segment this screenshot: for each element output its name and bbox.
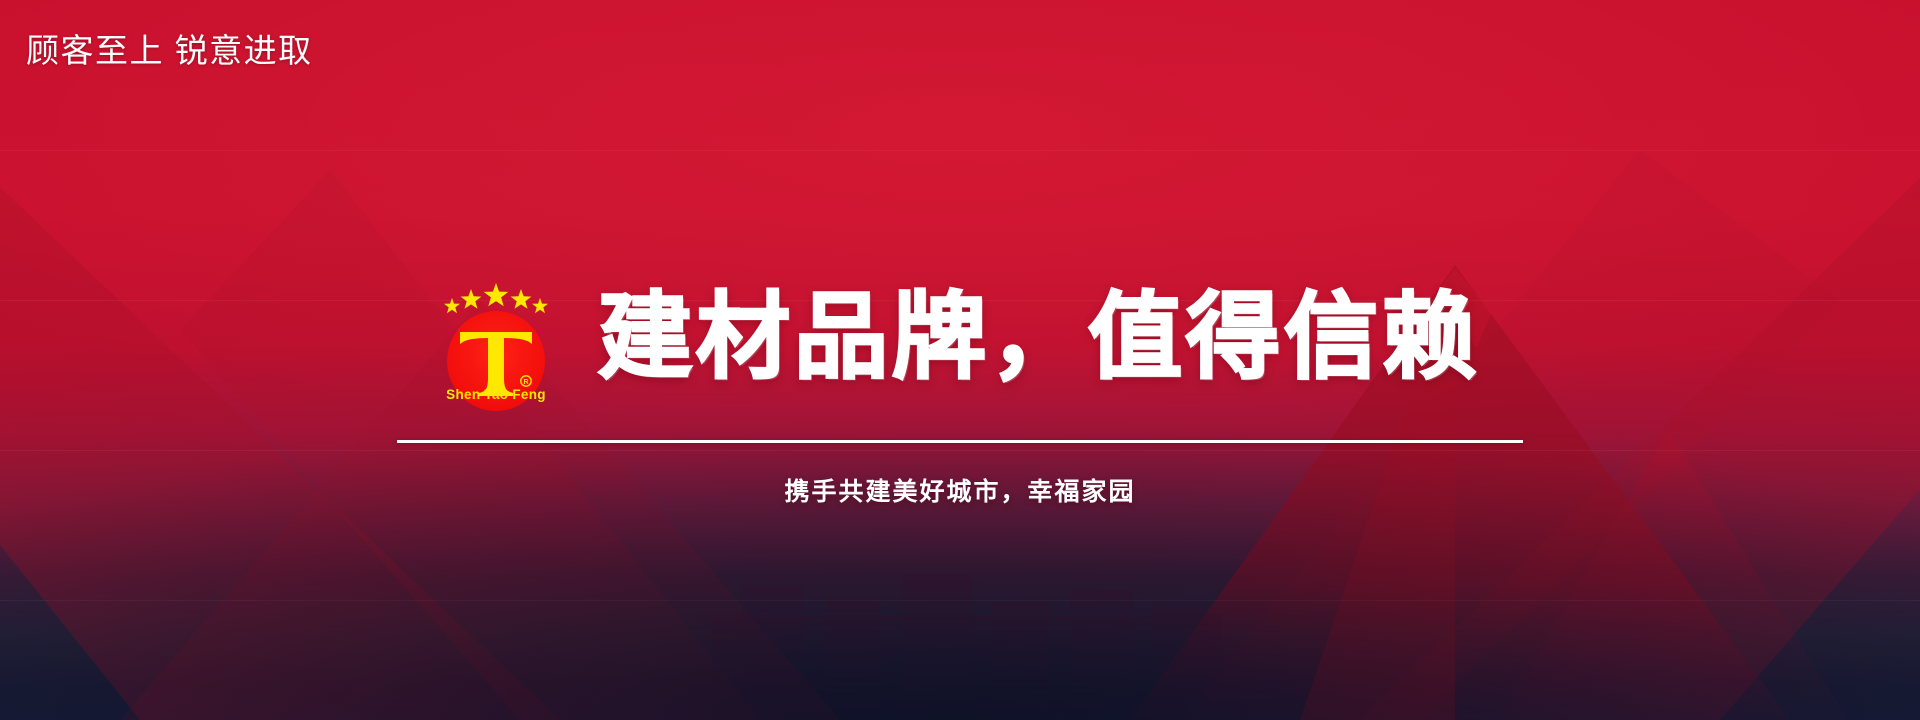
headline-row: R Shen Tao Feng 建材品牌，值得信赖 [440,262,1480,412]
divider-rule [397,440,1523,443]
logo-stars [444,283,548,313]
star-1 [444,298,460,313]
svg-text:R: R [523,379,528,386]
promo-banner: 顾客至上 锐意进取 [0,0,1920,720]
corporate-slogan: 顾客至上 锐意进取 [26,28,313,74]
star-2 [461,289,482,309]
brand-logo: R Shen Tao Feng [440,262,552,412]
hero-headline: 建材品牌，值得信赖 [598,290,1480,384]
star-5 [532,298,548,313]
logo-brand-name: Shen Tao Feng [446,387,546,402]
hero-content: R Shen Tao Feng 建材品牌，值得信赖 携手共建美好城市，幸福家园 [0,262,1920,509]
city-silhouette [712,574,1222,720]
hero-subtitle: 携手共建美好城市，幸福家园 [784,475,1135,509]
star-4 [511,289,532,309]
star-3 [484,283,509,306]
